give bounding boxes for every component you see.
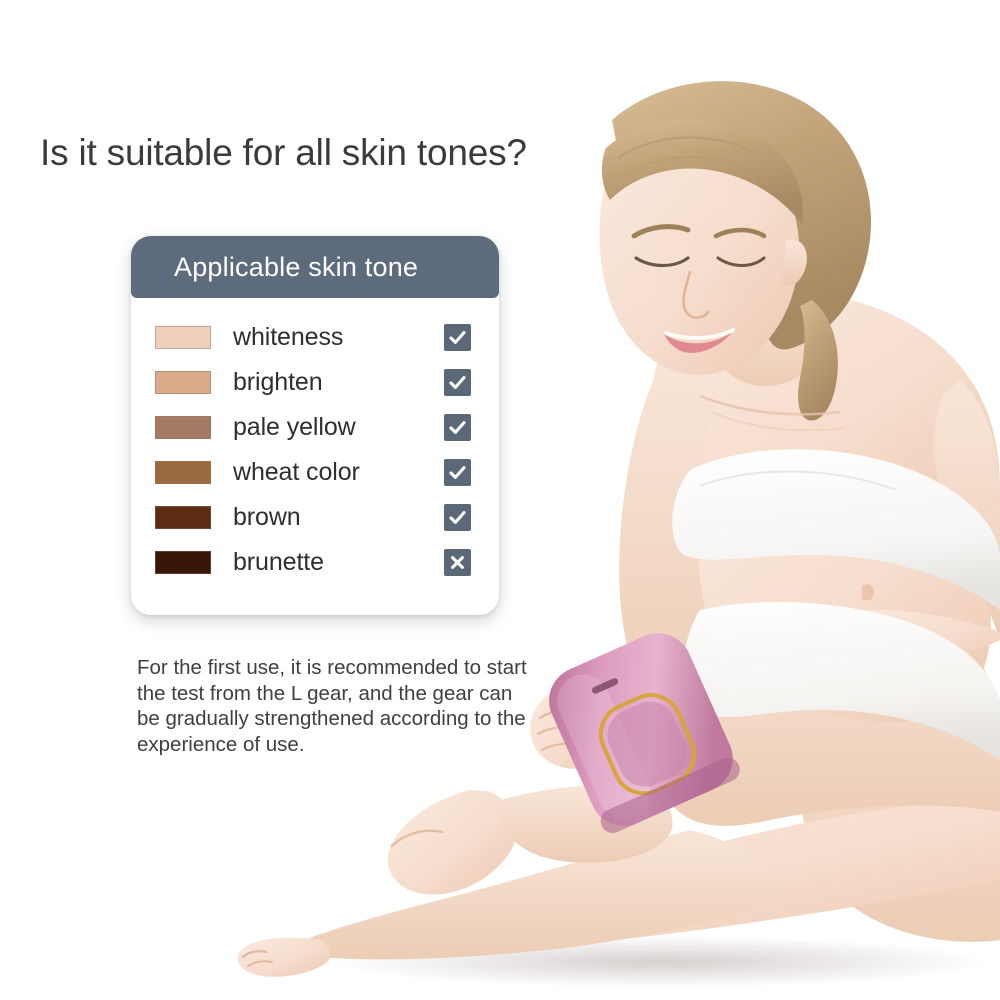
list-item[interactable]: pale yellow bbox=[131, 405, 499, 450]
skin-tone-label: brighten bbox=[233, 368, 444, 397]
skin-tone-swatch bbox=[155, 371, 211, 394]
check-icon[interactable] bbox=[444, 459, 471, 486]
check-icon[interactable] bbox=[444, 369, 471, 396]
check-icon[interactable] bbox=[444, 324, 471, 351]
check-icon[interactable] bbox=[444, 504, 471, 531]
product-infographic-page: Is it suitable for all skin tones? Appli… bbox=[0, 0, 1000, 1000]
cross-icon[interactable] bbox=[444, 549, 471, 576]
skin-tone-label: whiteness bbox=[233, 323, 444, 352]
list-item[interactable]: wheat color bbox=[131, 450, 499, 495]
skin-tone-label: brown bbox=[233, 503, 444, 532]
list-item[interactable]: whiteness bbox=[131, 315, 499, 360]
list-item[interactable]: brown bbox=[131, 495, 499, 540]
check-icon[interactable] bbox=[444, 414, 471, 441]
card-header: Applicable skin tone bbox=[131, 236, 499, 298]
skin-tone-swatch bbox=[155, 506, 211, 529]
skin-tone-swatch bbox=[155, 551, 211, 574]
skin-tone-list: whiteness brighten pale yellow bbox=[131, 298, 499, 615]
page-title: Is it suitable for all skin tones? bbox=[40, 132, 527, 174]
card-header-title: Applicable skin tone bbox=[174, 252, 418, 283]
usage-note: For the first use, it is recommended to … bbox=[137, 655, 527, 757]
skin-tone-swatch bbox=[155, 416, 211, 439]
skin-tone-label: wheat color bbox=[233, 458, 444, 487]
skin-tone-label: pale yellow bbox=[233, 413, 444, 442]
skin-tone-swatch bbox=[155, 326, 211, 349]
skin-tone-label: brunette bbox=[233, 548, 444, 577]
applicable-skin-tone-card: Applicable skin tone whiteness brighten … bbox=[131, 236, 499, 615]
list-item[interactable]: brighten bbox=[131, 360, 499, 405]
list-item[interactable]: brunette bbox=[131, 540, 499, 585]
skin-tone-swatch bbox=[155, 461, 211, 484]
